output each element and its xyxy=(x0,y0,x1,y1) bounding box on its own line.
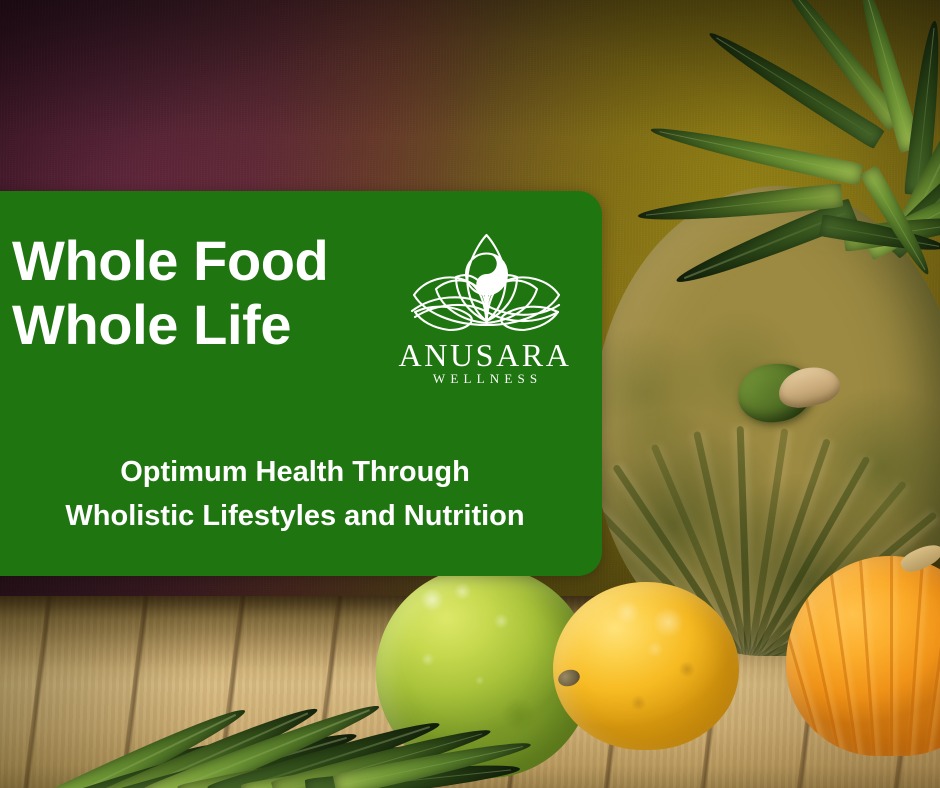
subtitle-line-2: Wholistic Lifestyles and Nutrition xyxy=(0,495,590,539)
anusara-logo: ANUSARA WELLNESS xyxy=(395,233,575,388)
headline-line-1: Whole Food xyxy=(12,229,328,292)
headline-line-2: Whole Life xyxy=(12,293,412,357)
logo-brand-tagline: WELLNESS xyxy=(395,372,575,385)
subtitle: Optimum Health Through Wholistic Lifesty… xyxy=(0,451,590,538)
logo-brand-name: ANUSARA xyxy=(395,339,575,371)
green-content-panel: Whole Food Whole Life xyxy=(0,191,602,576)
lotus-yin-yang-icon xyxy=(409,233,564,341)
pineapple-crown-top-right xyxy=(690,0,940,230)
banner-canvas: Whole Food Whole Life xyxy=(0,0,940,788)
headline: Whole Food Whole Life xyxy=(12,229,412,357)
yellow-lemon-texture xyxy=(553,582,739,750)
subtitle-line-1: Optimum Health Through xyxy=(120,456,470,488)
